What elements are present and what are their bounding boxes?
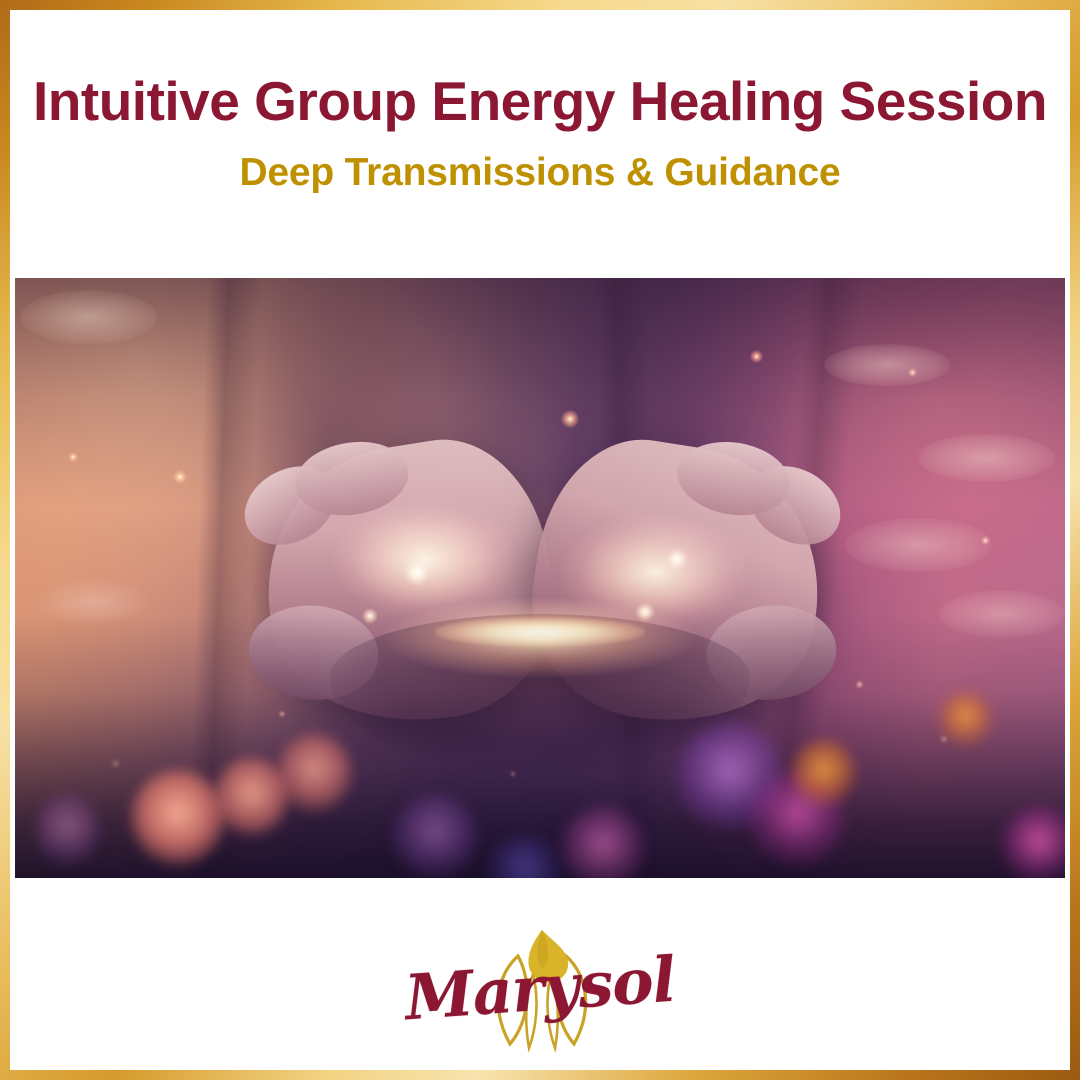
bokeh-flower — [131, 770, 226, 866]
page-subtitle: Deep Transmissions & Guidance — [10, 130, 1070, 195]
bokeh-flower — [393, 794, 477, 878]
bokeh-flower — [1002, 806, 1065, 878]
bokeh-flower — [36, 794, 99, 866]
bokeh-flower — [278, 734, 352, 812]
poster-canvas: Intuitive Group Energy Healing Session D… — [10, 10, 1070, 1070]
brand-logo: Marysol — [10, 916, 1070, 1056]
bokeh-flower — [939, 692, 992, 746]
bokeh-flower — [215, 758, 289, 836]
page-title: Intuitive Group Energy Healing Session — [10, 10, 1070, 130]
bokeh-flower — [792, 740, 855, 806]
hero-image — [15, 278, 1065, 878]
poster-frame: Intuitive Group Energy Healing Session D… — [0, 0, 1080, 1080]
heading-block: Intuitive Group Energy Healing Session D… — [10, 10, 1070, 195]
